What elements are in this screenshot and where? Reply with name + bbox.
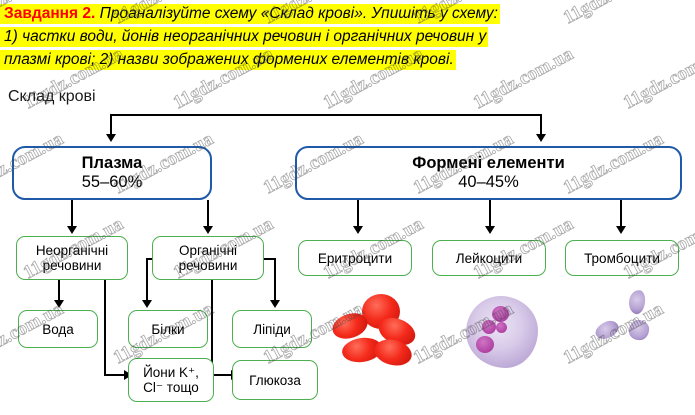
task-text-1: Проаналізуйте схему «Склад крові». Упиші… (100, 5, 498, 22)
box-erythrocytes-label: Еритроцити (318, 251, 392, 266)
conn-organic-to-proteins-vertical (146, 258, 148, 302)
box-lipids[interactable]: Ліпіди (232, 310, 312, 348)
conn-formeni-to-leukocytes (489, 200, 491, 228)
box-formeni-title: Формені елементи (412, 154, 565, 173)
task-label: Завдання 2. (4, 5, 95, 22)
box-water-label: Вода (42, 322, 74, 337)
arrow-proteins (142, 300, 152, 308)
conn-formeni-to-thrombocytes (620, 200, 622, 228)
task-text-2: 1) частки води, йонів неорганічних речов… (0, 27, 488, 47)
box-ions[interactable]: Йони K⁺, Cl⁻ тощо (128, 358, 214, 402)
box-formeni-elementy[interactable]: Формені елементи 40–45% (295, 146, 682, 200)
root-bus-horizontal (110, 114, 542, 116)
conn-inorganic-to-water (58, 280, 60, 302)
conn-formeni-to-erythrocytes (357, 200, 359, 228)
arrow-leukocytes (485, 226, 495, 234)
root-arrow-formeni (536, 134, 546, 142)
arrow-erythrocytes (353, 226, 363, 234)
conn-plazma-to-inorganic (71, 200, 73, 228)
box-leukocytes-label: Лейкоцити (456, 251, 522, 266)
conn-inorganic-to-ions-vertical (104, 280, 106, 376)
task-header: Завдання 2. Проаналізуйте схему «Склад к… (0, 0, 695, 71)
leukocyte-image (462, 292, 552, 384)
task-line-2: 1) частки води, йонів неорганічних речов… (0, 25, 695, 48)
conn-organic-to-lipids-vertical (274, 258, 276, 302)
arrow-lipids (270, 300, 280, 308)
box-water[interactable]: Вода (18, 310, 98, 348)
conn-inorganic-to-ions-horizontal (104, 374, 126, 376)
task-line-1: Завдання 2. Проаналізуйте схему «Склад к… (0, 2, 695, 25)
box-leukocytes[interactable]: Лейкоцити (432, 240, 546, 276)
arrow-water (54, 300, 64, 308)
box-inorganic-line1: Неорганічні (36, 243, 108, 258)
box-ions-line1: Йони K⁺, (143, 365, 199, 380)
arrow-thrombocytes (616, 226, 626, 234)
box-proteins-label: Білки (151, 322, 184, 337)
conn-plazma-to-organic (207, 200, 209, 228)
box-plazma-title: Плазма (82, 154, 143, 173)
box-glucose-label: Глюкоза (249, 373, 301, 388)
arrow-organic (203, 226, 213, 234)
conn-organic-to-lipids-horizontal (262, 258, 276, 260)
task-line-3: плазмі крові; 2) назви зображених формен… (0, 48, 695, 71)
box-ions-line2: Cl⁻ тощо (143, 380, 199, 395)
box-plazma-value: 55–60% (82, 173, 143, 192)
erythrocytes-image (330, 292, 440, 387)
box-glucose[interactable]: Глюкоза (232, 360, 318, 400)
root-arrow-plazma (106, 134, 116, 142)
box-thrombocytes[interactable]: Тромбоцити (565, 240, 679, 276)
root-bus-right-stem (540, 114, 542, 136)
box-organic-line1: Органічні (179, 243, 237, 258)
thrombocytes-image (585, 288, 675, 378)
box-proteins[interactable]: Білки (128, 310, 208, 348)
box-formeni-value: 40–45% (458, 173, 519, 192)
box-thrombocytes-label: Тромбоцити (584, 251, 660, 266)
task-text-3: плазмі крові; 2) назви зображених формен… (0, 50, 456, 70)
box-inorganic-line2: речовини (43, 258, 102, 273)
box-organic-line2: речовини (179, 258, 238, 273)
box-inorganic-substances[interactable]: Неорганічні речовини (16, 236, 128, 280)
arrow-inorganic (67, 226, 77, 234)
box-organic-substances[interactable]: Органічні речовини (152, 236, 264, 280)
scheme-title: Склад крові (8, 88, 96, 106)
box-plazma[interactable]: Плазма 55–60% (12, 146, 212, 200)
box-lipids-label: Ліпіди (253, 322, 291, 337)
box-erythrocytes[interactable]: Еритроцити (298, 240, 412, 276)
root-bus-left-stem (110, 114, 112, 136)
conn-organic-to-glucose-horizontal (211, 374, 233, 376)
